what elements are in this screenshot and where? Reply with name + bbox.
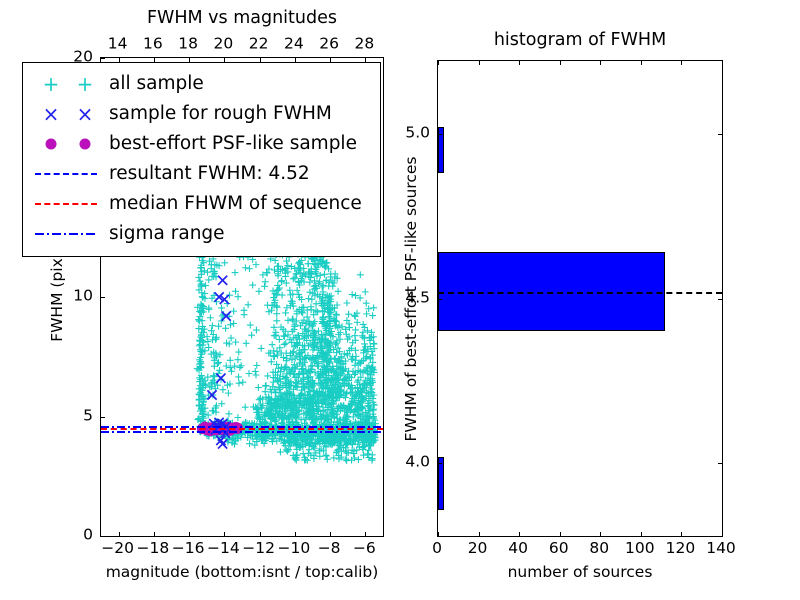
hist-x-tick: [722, 532, 723, 536]
hist-x-tick: [560, 532, 561, 536]
x-tick-label-bottom: −18: [137, 541, 170, 557]
cross-marker: ×: [43, 104, 60, 124]
legend-item[interactable]: resultant FWHM: 4.52: [31, 159, 372, 189]
hist-x-tick: [519, 532, 520, 536]
x-tick-label-top: 28: [355, 37, 375, 53]
hist-x-tick-label: 80: [589, 541, 609, 557]
dot-marker: [46, 139, 57, 150]
dashed-line: [35, 173, 97, 175]
legend-label: resultant FWHM: 4.52: [105, 165, 310, 184]
x-tick-bottom: [260, 532, 261, 536]
plus-marker: +: [77, 74, 94, 94]
x-tick-label-top: 14: [108, 37, 128, 53]
x-tick-label-top: 22: [249, 37, 269, 53]
legend-label: median FHWM of sequence: [105, 195, 362, 214]
x-tick-label-top: 26: [319, 37, 339, 53]
reference-line: [101, 431, 383, 433]
histogram-axes[interactable]: [437, 60, 723, 537]
legend-item[interactable]: best-effort PSF-like sample: [31, 129, 372, 159]
x-tick-bottom: [224, 532, 225, 536]
hist-x-tick: [438, 532, 439, 536]
dashed-line: [31, 160, 105, 188]
plus-marker: +: [43, 74, 60, 94]
x-tick-label-bottom: −12: [242, 541, 275, 557]
x-tick-label-top: 18: [178, 37, 198, 53]
right-panel-title: histogram of FWHM: [437, 30, 723, 50]
legend-item[interactable]: ++all sample: [31, 69, 372, 99]
legend-label: sample for rough FWHM: [105, 105, 332, 124]
y-tick-label-left: 10: [73, 288, 93, 304]
histogram-reference-line: [438, 292, 722, 294]
hist-x-tick-top: [641, 61, 642, 65]
hist-y-tick-right: [718, 463, 722, 464]
hist-x-tick-label: 60: [549, 541, 569, 557]
hist-x-tick-top: [722, 61, 723, 65]
x-tick-label-top: 20: [214, 37, 234, 53]
hist-y-tick: [438, 134, 442, 135]
left-yaxis-label: FWHM (pix): [50, 252, 66, 342]
legend-item[interactable]: sigma range: [31, 219, 372, 249]
plus-marker: ++: [31, 70, 105, 98]
x-tick-label-bottom: −8: [318, 541, 341, 557]
x-tick-label-bottom: −6: [353, 541, 376, 557]
y-tick-left: [101, 58, 105, 59]
dashdot-line: [31, 220, 105, 248]
legend-label: sigma range: [105, 225, 225, 244]
hist-x-tick-label: 0: [432, 541, 442, 557]
figure-canvas: FWHM vs magnitudes −20−18−16−14−12−10−8−…: [0, 0, 800, 600]
hist-x-tick-label: 20: [468, 541, 488, 557]
x-tick-label-bottom: −14: [207, 541, 240, 557]
plot-legend[interactable]: ++all sample××sample for rough FWHMbest-…: [22, 62, 381, 257]
left-panel-title: FWHM vs magnitudes: [100, 8, 384, 28]
legend-item[interactable]: median FHWM of sequence: [31, 189, 372, 219]
cross-marker: ×: [77, 104, 94, 124]
x-tick-label-top: 24: [284, 37, 304, 53]
hist-x-tick-top: [560, 61, 561, 65]
x-tick-bottom: [189, 532, 190, 536]
x-tick-label-bottom: −20: [101, 541, 134, 557]
x-tick-bottom: [330, 532, 331, 536]
x-tick-bottom: [365, 532, 366, 536]
x-tick-bottom: [119, 532, 120, 536]
x-tick-label-bottom: −10: [278, 541, 311, 557]
hist-x-tick-top: [479, 61, 480, 65]
hist-x-tick-top: [438, 61, 439, 65]
legend-label: all sample: [105, 75, 204, 94]
y-tick-left: [101, 536, 105, 537]
hist-x-tick: [681, 532, 682, 536]
dashed-line: [31, 190, 105, 218]
hist-y-tick-right: [718, 299, 722, 300]
legend-label: best-effort PSF-like sample: [105, 135, 357, 154]
hist-x-tick-top: [681, 61, 682, 65]
y-tick-left: [101, 417, 105, 418]
hist-x-tick: [600, 532, 601, 536]
x-tick-bottom: [154, 532, 155, 536]
hist-x-tick-label: 140: [706, 541, 736, 557]
right-xaxis-label: number of sources: [508, 565, 653, 581]
right-yaxis-label: FWHM of best-effort PSF-like sources: [404, 156, 420, 441]
x-tick-label-top: 16: [143, 37, 163, 53]
hist-x-tick: [479, 532, 480, 536]
x-tick-label-bottom: −16: [172, 541, 205, 557]
hist-x-tick-label: 100: [625, 541, 655, 557]
left-xaxis-label: magnitude (bottom:isnt / top:calib): [106, 565, 379, 581]
hist-y-tick: [438, 299, 442, 300]
dot-marker: [80, 139, 91, 150]
y-tick-left: [101, 297, 105, 298]
hist-y-tick-label: 4.0: [405, 455, 430, 471]
hist-x-tick: [641, 532, 642, 536]
hist-x-tick-top: [600, 61, 601, 65]
x-tick-bottom: [295, 532, 296, 536]
histogram-plot-area: [438, 61, 722, 536]
dashdot-line: [35, 233, 97, 235]
dashed-line: [35, 203, 97, 205]
hist-x-tick-top: [519, 61, 520, 65]
hist-y-tick: [438, 463, 442, 464]
dot-marker: [31, 130, 105, 158]
reference-line: [101, 426, 383, 428]
y-tick-label-left: 5: [83, 408, 93, 424]
cross-marker: ××: [31, 100, 105, 128]
hist-y-tick-right: [718, 134, 722, 135]
hist-x-tick-label: 120: [666, 541, 696, 557]
legend-item[interactable]: ××sample for rough FWHM: [31, 99, 372, 129]
legend-rows: ++all sample××sample for rough FWHMbest-…: [31, 69, 372, 249]
y-tick-label-left: 0: [83, 527, 93, 543]
hist-x-tick-label: 40: [508, 541, 528, 557]
hist-y-tick-label: 5.0: [405, 125, 430, 141]
histogram-bar: [438, 457, 444, 510]
